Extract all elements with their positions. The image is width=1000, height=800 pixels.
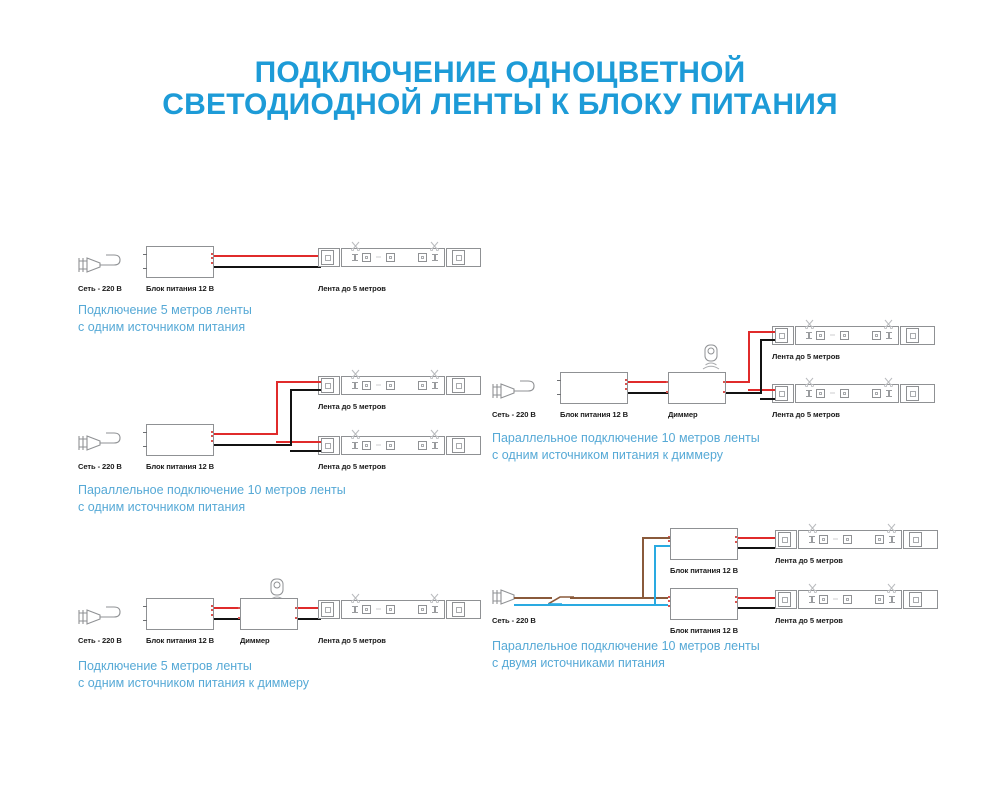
led-strip xyxy=(318,436,481,455)
scissors-icon xyxy=(351,426,360,436)
label-led-strip-top: Лента до 5 метров xyxy=(772,352,840,361)
scissors-icon xyxy=(430,366,439,376)
strip-cut-line xyxy=(898,326,901,345)
strip-cut-line xyxy=(901,590,904,609)
wire-negative-riser xyxy=(760,339,762,393)
wire-mains-neutral-top xyxy=(654,545,670,547)
label-power-supply-bottom: Блок питания 12 В xyxy=(670,626,738,635)
plug-220v-icon xyxy=(492,378,538,404)
wire-positive-bottom xyxy=(276,441,321,443)
led-strip xyxy=(772,384,935,403)
strip-cut-line xyxy=(793,326,796,345)
power-supply-box-top xyxy=(670,528,738,560)
strip-resistor xyxy=(811,536,813,543)
led-strip xyxy=(775,590,938,609)
strip-solder-pad xyxy=(452,378,465,393)
dimmer-terminal-dot xyxy=(295,607,297,609)
label-power-supply: Блок питания 12 В xyxy=(146,462,214,471)
caption-line-2: с одним источником питания к диммеру xyxy=(492,447,760,464)
strip-solder-pad xyxy=(909,592,922,607)
wire-positive xyxy=(726,381,750,383)
psu-terminal-dot xyxy=(668,540,670,542)
led-strip xyxy=(318,376,481,395)
strip-led xyxy=(386,605,395,614)
strip-cut-line xyxy=(793,384,796,403)
strip-resistor xyxy=(891,596,893,603)
scissors-icon xyxy=(351,238,360,248)
power-supply-box xyxy=(146,598,214,630)
wire-positive xyxy=(738,537,778,539)
dimmer-box xyxy=(240,598,298,630)
psu-pin xyxy=(143,268,147,269)
plug-220v-icon xyxy=(78,430,124,456)
page-title-line-1: ПОДКЛЮЧЕНИЕ ОДНОЦВЕТНОЙ xyxy=(0,57,1000,89)
led-strip xyxy=(318,248,481,267)
strip-led xyxy=(362,441,371,450)
strip-cut-line xyxy=(444,600,447,619)
strip-led xyxy=(843,595,852,604)
strip-trace xyxy=(376,384,381,386)
label-power-supply: Блок питания 12 В xyxy=(560,410,628,419)
psu-terminal-dot xyxy=(211,431,213,433)
diagram-3-caption: Подключение 5 метров ленты с одним источ… xyxy=(78,658,309,692)
scissors-icon xyxy=(430,238,439,248)
strip-cut-line xyxy=(444,248,447,267)
strip-cut-line xyxy=(339,436,342,455)
strip-solder-pad xyxy=(321,250,334,265)
power-supply-box xyxy=(146,246,214,278)
scissors-icon xyxy=(351,366,360,376)
label-power-supply: Блок питания 12 В xyxy=(146,284,214,293)
led-strip xyxy=(775,530,938,549)
strip-led xyxy=(816,331,825,340)
diagram-4-caption: Параллельное подключение 10 метров ленты… xyxy=(492,430,760,464)
wire-mains-live-top xyxy=(642,537,670,539)
wire-negative-riser xyxy=(290,389,292,445)
strip-led xyxy=(362,381,371,390)
label-led-strip: Лента до 5 метров xyxy=(318,636,386,645)
label-led-strip: Лента до 5 метров xyxy=(318,284,386,293)
strip-led xyxy=(362,605,371,614)
strip-cut-line xyxy=(796,530,799,549)
scissors-icon xyxy=(430,590,439,600)
strip-led xyxy=(875,535,884,544)
psu-terminal-dot xyxy=(735,541,737,543)
label-mains-220v: Сеть - 220 В xyxy=(492,410,536,419)
strip-cut-line xyxy=(796,590,799,609)
strip-resistor xyxy=(891,536,893,543)
strip-cut-line xyxy=(444,376,447,395)
psu-terminal-dot xyxy=(625,383,627,385)
strip-led xyxy=(386,253,395,262)
diagram-canvas: ПОДКЛЮЧЕНИЕ ОДНОЦВЕТНОЙ СВЕТОДИОДНОЙ ЛЕН… xyxy=(0,0,1000,800)
scissors-icon xyxy=(805,316,814,326)
strip-trace xyxy=(833,598,838,600)
strip-trace xyxy=(376,608,381,610)
psu-pin xyxy=(143,620,147,621)
strip-led xyxy=(418,605,427,614)
strip-trace xyxy=(376,256,381,258)
dimmer-terminal-dot xyxy=(238,617,240,619)
strip-solder-pad xyxy=(778,592,791,607)
strip-trace xyxy=(830,334,835,336)
strip-trace xyxy=(376,444,381,446)
strip-solder-pad xyxy=(452,602,465,617)
strip-led xyxy=(875,595,884,604)
psu-pin xyxy=(557,394,561,395)
diagram-5-parallel-two-strips-two-psu: Блок питания 12 В Лента до 5 метров xyxy=(492,518,1000,678)
psu-terminal-dot xyxy=(211,614,213,616)
caption-line-2: с двумя источниками питания xyxy=(492,655,760,672)
strip-resistor xyxy=(434,442,436,449)
scissors-icon xyxy=(884,374,893,384)
psu-terminal-dot xyxy=(211,253,213,255)
strip-led xyxy=(418,441,427,450)
strip-led xyxy=(840,331,849,340)
scissors-icon xyxy=(805,374,814,384)
strip-cut-line xyxy=(339,600,342,619)
psu-pin xyxy=(143,446,147,447)
diagram-5-caption: Параллельное подключение 10 метров ленты… xyxy=(492,638,760,672)
strip-led xyxy=(362,253,371,262)
strip-led xyxy=(819,595,828,604)
strip-led xyxy=(872,389,881,398)
wire-mains-live xyxy=(514,597,552,599)
diagram-1-caption: Подключение 5 метров ленты с одним источ… xyxy=(78,302,252,336)
wire-mains-live-riser xyxy=(642,537,644,598)
dimmer-terminal-dot xyxy=(295,617,297,619)
psu-terminal-dot xyxy=(211,257,213,259)
psu-terminal-dot xyxy=(625,379,627,381)
strip-resistor xyxy=(808,332,810,339)
scissors-icon xyxy=(884,316,893,326)
psu-terminal-dot xyxy=(211,435,213,437)
diagram-2-parallel-two-strips-one-psu: Лента до 5 метров Лента до 5 метров xyxy=(78,370,488,520)
caption-line-2: с одним источником питания xyxy=(78,319,252,336)
strip-led xyxy=(840,389,849,398)
strip-resistor xyxy=(434,254,436,261)
label-mains-220v: Сеть - 220 В xyxy=(78,462,122,471)
wire-negative xyxy=(214,266,321,268)
strip-solder-pad xyxy=(452,250,465,265)
wire-negative-top xyxy=(760,339,775,341)
strip-resistor xyxy=(354,254,356,261)
dimmer-terminal-dot xyxy=(666,381,668,383)
psu-terminal-dot xyxy=(735,601,737,603)
strip-solder-pad xyxy=(452,438,465,453)
strip-solder-pad xyxy=(906,386,919,401)
psu-pin xyxy=(557,380,561,381)
caption-line-1: Подключение 5 метров ленты xyxy=(78,658,309,675)
wire-negative xyxy=(726,392,762,394)
diagram-3-single-strip-psu-dimmer: Сеть - 220 В Блок питания 12 В Диммер xyxy=(78,578,488,698)
power-supply-box xyxy=(146,424,214,456)
wire-negative-bottom xyxy=(290,450,321,452)
strip-solder-pad xyxy=(775,386,788,401)
dimmer-terminal-dot xyxy=(723,391,725,393)
strip-cut-line xyxy=(901,530,904,549)
wire-positive-riser xyxy=(276,381,278,434)
strip-resistor xyxy=(808,390,810,397)
dimmer-box xyxy=(668,372,726,404)
psu-terminal-dot xyxy=(668,600,670,602)
strip-cut-line xyxy=(898,384,901,403)
strip-solder-pad xyxy=(906,328,919,343)
scissors-icon xyxy=(808,520,817,530)
plug-220v-icon xyxy=(78,604,124,630)
wire-positive xyxy=(628,381,670,383)
caption-line-1: Параллельное подключение 10 метров ленты xyxy=(492,638,760,655)
strip-solder-pad xyxy=(321,438,334,453)
label-mains-220v: Сеть - 220 В xyxy=(78,636,122,645)
strip-resistor xyxy=(434,382,436,389)
label-led-strip-top: Лента до 5 метров xyxy=(318,402,386,411)
psu-pin xyxy=(143,254,147,255)
strip-resistor xyxy=(434,606,436,613)
wire-positive-top xyxy=(276,381,321,383)
label-dimmer: Диммер xyxy=(240,636,270,645)
scissors-icon xyxy=(808,580,817,590)
scissors-icon xyxy=(887,580,896,590)
psu-terminal-dot xyxy=(211,605,213,607)
strip-led xyxy=(418,253,427,262)
dimmer-terminal-dot xyxy=(666,391,668,393)
strip-trace xyxy=(833,538,838,540)
diagram-4-parallel-two-strips-psu-dimmer: Лента до 5 метров Лента до 5 метров xyxy=(492,318,1000,468)
wire-positive xyxy=(214,255,321,257)
wire-positive xyxy=(738,597,778,599)
led-strip xyxy=(318,600,481,619)
label-power-supply-top: Блок питания 12 В xyxy=(670,566,738,575)
strip-led xyxy=(386,381,395,390)
plug-220v-icon xyxy=(78,252,124,278)
strip-resistor xyxy=(354,606,356,613)
psu-terminal-dot xyxy=(668,596,670,598)
wire-mains-join xyxy=(548,594,574,608)
diagram-1-single-strip-one-psu: Сеть - 220 В Блок питания 12 В xyxy=(78,238,488,338)
wire-negative xyxy=(628,392,670,394)
power-supply-box-bottom xyxy=(670,588,738,620)
label-led-strip-bottom: Лента до 5 метров xyxy=(775,616,843,625)
dimmer-terminal-dot xyxy=(723,381,725,383)
wire-negative-top xyxy=(290,389,321,391)
dimmer-terminal-dot xyxy=(238,607,240,609)
strip-solder-pad xyxy=(321,602,334,617)
page-title-line-2: СВЕТОДИОДНОЙ ЛЕНТЫ К БЛОКУ ПИТАНИЯ xyxy=(0,89,1000,121)
wire-negative xyxy=(214,444,292,446)
page-title: ПОДКЛЮЧЕНИЕ ОДНОЦВЕТНОЙ СВЕТОДИОДНОЙ ЛЕН… xyxy=(0,57,1000,121)
label-power-supply: Блок питания 12 В xyxy=(146,636,214,645)
scissors-icon xyxy=(430,426,439,436)
label-mains-220v: Сеть - 220 В xyxy=(492,616,536,625)
wire-negative xyxy=(738,607,778,609)
wire-negative-bottom xyxy=(760,398,775,400)
strip-resistor xyxy=(354,382,356,389)
strip-led xyxy=(816,389,825,398)
psu-pin xyxy=(143,606,147,607)
caption-line-1: Параллельное подключение 10 метров ленты xyxy=(78,482,346,499)
wire-positive-top xyxy=(748,331,775,333)
wire-mains-neutral xyxy=(558,604,668,606)
caption-line-2: с одним источником питания к диммеру xyxy=(78,675,309,692)
psu-terminal-dot xyxy=(735,596,737,598)
strip-cut-line xyxy=(444,436,447,455)
strip-led xyxy=(843,535,852,544)
caption-line-2: с одним источником питания xyxy=(78,499,346,516)
label-dimmer: Диммер xyxy=(668,410,698,419)
wire-positive-riser xyxy=(748,331,750,383)
psu-terminal-dot xyxy=(625,388,627,390)
label-led-strip-top: Лента до 5 метров xyxy=(775,556,843,565)
strip-trace xyxy=(830,392,835,394)
strip-led xyxy=(386,441,395,450)
caption-line-1: Подключение 5 метров ленты xyxy=(78,302,252,319)
psu-terminal-dot xyxy=(211,440,213,442)
strip-solder-pad xyxy=(909,532,922,547)
psu-terminal-dot xyxy=(735,536,737,538)
strip-led xyxy=(872,331,881,340)
strip-resistor xyxy=(354,442,356,449)
strip-solder-pad xyxy=(775,328,788,343)
power-supply-box xyxy=(560,372,628,404)
label-led-strip-bottom: Лента до 5 метров xyxy=(318,462,386,471)
strip-solder-pad xyxy=(778,532,791,547)
strip-cut-line xyxy=(339,248,342,267)
diagram-2-caption: Параллельное подключение 10 метров ленты… xyxy=(78,482,346,516)
led-strip xyxy=(772,326,935,345)
caption-line-1: Параллельное подключение 10 метров ленты xyxy=(492,430,760,447)
wire-negative xyxy=(738,547,778,549)
psu-pin xyxy=(143,432,147,433)
psu-terminal-dot xyxy=(211,262,213,264)
label-led-strip-bottom: Лента до 5 метров xyxy=(772,410,840,419)
strip-resistor xyxy=(811,596,813,603)
strip-led xyxy=(418,381,427,390)
strip-solder-pad xyxy=(321,378,334,393)
strip-resistor xyxy=(888,332,890,339)
wire-mains-neutral-riser xyxy=(654,545,656,605)
label-mains-220v: Сеть - 220 В xyxy=(78,284,122,293)
strip-led xyxy=(819,535,828,544)
wire-positive xyxy=(214,433,278,435)
strip-cut-line xyxy=(339,376,342,395)
psu-terminal-dot xyxy=(211,609,213,611)
strip-resistor xyxy=(888,390,890,397)
scissors-icon xyxy=(351,590,360,600)
psu-terminal-dot xyxy=(668,605,670,607)
scissors-icon xyxy=(887,520,896,530)
